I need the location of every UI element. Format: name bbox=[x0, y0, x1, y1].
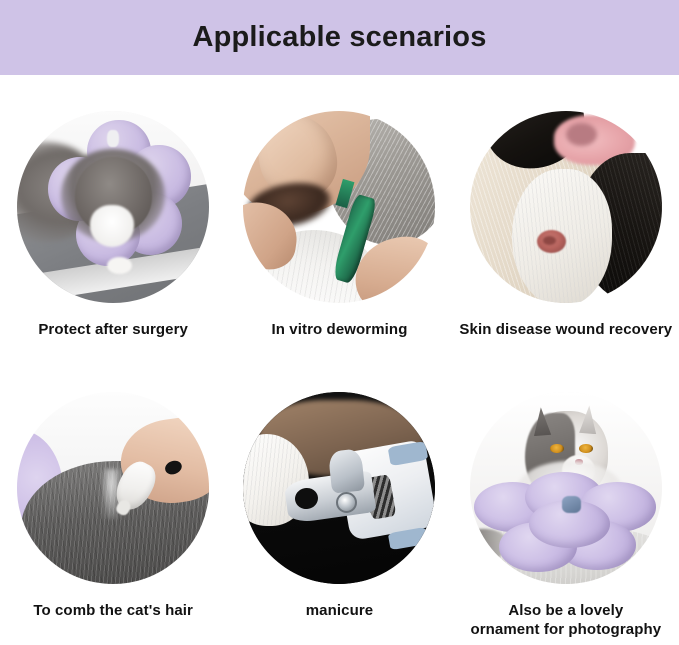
caption-line: Skin disease wound recovery bbox=[453, 320, 679, 339]
infographic-page: Applicable scenarios bbox=[0, 0, 679, 645]
scenario-cell-ornament-for-photography: Also be a lovely ornament for photograph… bbox=[453, 356, 679, 641]
clipper-pivot-screw bbox=[336, 492, 357, 513]
photo-skin-disease-wound-recovery bbox=[470, 111, 662, 303]
scenario-cell-in-vitro-deworming: In vitro deworming bbox=[226, 75, 452, 360]
collar-tag bbox=[107, 130, 119, 147]
caption-line: Also be a lovely bbox=[453, 601, 679, 620]
caption-manicure: manicure bbox=[226, 601, 452, 620]
scenario-cell-protect-after-surgery: Protect after surgery bbox=[0, 75, 226, 360]
caption-in-vitro-deworming: In vitro deworming bbox=[226, 320, 452, 339]
caption-line: ornament for photography bbox=[453, 620, 679, 639]
scenario-cell-skin-disease-wound-recovery: Skin disease wound recovery bbox=[453, 75, 679, 360]
scenario-row-2: To comb the cat's hair bbox=[0, 356, 679, 641]
caption-line: To comb the cat's hair bbox=[0, 601, 226, 620]
caption-ornament-for-photography: Also be a lovely ornament for photograph… bbox=[453, 601, 679, 639]
caption-line: Protect after surgery bbox=[0, 320, 226, 339]
scenario-cell-comb-the-cats-hair: To comb the cat's hair bbox=[0, 356, 226, 641]
cat-eye-right bbox=[579, 444, 592, 454]
header-banner: Applicable scenarios bbox=[0, 0, 679, 75]
photo-protect-after-surgery bbox=[17, 111, 209, 303]
caption-line: manicure bbox=[226, 601, 452, 620]
scenario-cell-manicure: manicure bbox=[226, 356, 452, 641]
photo-in-vitro-deworming bbox=[243, 111, 435, 303]
scenario-grid: Protect after surgery In vitro deworming bbox=[0, 75, 679, 645]
pink-skin-shadow bbox=[566, 123, 597, 146]
caption-comb-the-cats-hair: To comb the cat's hair bbox=[0, 601, 226, 620]
clipper-lever bbox=[328, 448, 365, 493]
caption-protect-after-surgery: Protect after surgery bbox=[0, 320, 226, 339]
photo-manicure bbox=[243, 392, 435, 584]
page-title: Applicable scenarios bbox=[192, 23, 486, 52]
collar-bow bbox=[562, 496, 581, 513]
caption-skin-disease-wound-recovery: Skin disease wound recovery bbox=[453, 320, 679, 339]
caption-line: In vitro deworming bbox=[226, 320, 452, 339]
photo-ornament-for-photography bbox=[470, 392, 662, 584]
photo-comb-the-cats-hair bbox=[17, 392, 209, 584]
scenario-row-1: Protect after surgery In vitro deworming bbox=[0, 75, 679, 360]
flower-collar bbox=[474, 476, 658, 576]
